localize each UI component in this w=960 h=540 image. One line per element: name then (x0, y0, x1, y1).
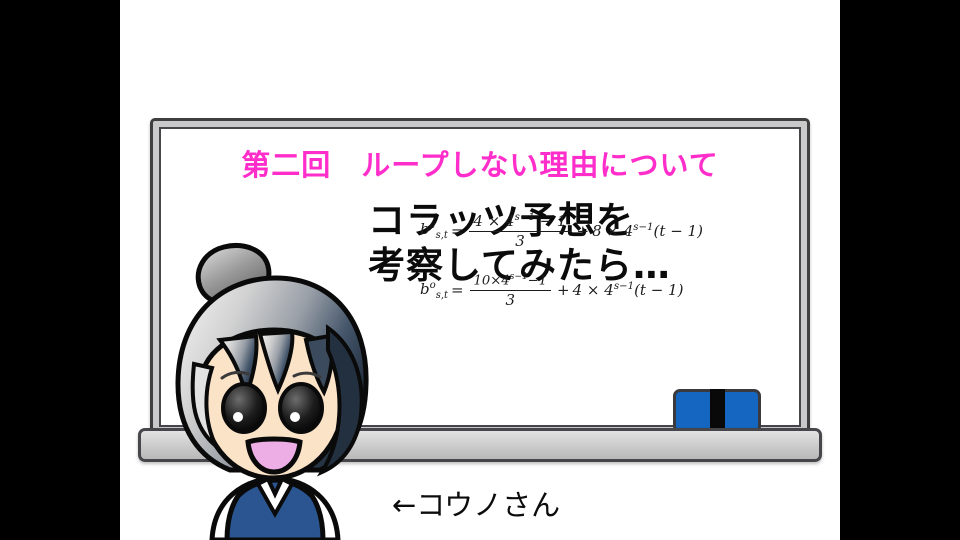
formula-even-lhs: bes,t (420, 220, 448, 241)
character-body (212, 478, 338, 540)
formula-odd: bos,t = 10×4s−1−1 3 + 4 × 4s−1(t − 1) (420, 272, 683, 309)
formula-odd-lhs: bos,t (420, 280, 448, 301)
character-illustration (160, 232, 390, 540)
eraser-band (710, 389, 725, 433)
formula-even-fraction: 4 × 4s−1 − 1 3 (469, 212, 570, 250)
slide-stage: 第二回 ループしない理由について コラッツ予想を 考察してみたら… bes,t … (0, 0, 960, 540)
formula-odd-numerator: 10×4s−1−1 (470, 272, 552, 291)
formula-odd-fraction: 10×4s−1−1 3 (470, 272, 552, 309)
character-caption: ←コウノさん (392, 482, 560, 524)
formula-odd-equals: = (451, 281, 464, 299)
formula-odd-tail: 4 × 4s−1(t − 1) (573, 281, 684, 299)
whiteboard-eraser (673, 389, 761, 433)
formula-odd-plus: + (557, 281, 570, 299)
formula-even-tail: 8 × 4s−1(t − 1) (592, 222, 703, 240)
formula-even-numerator: 4 × 4s−1 − 1 (469, 212, 570, 232)
formula-even: bes,t = 4 × 4s−1 − 1 3 + 8 × 4s−1(t − 1) (420, 212, 703, 250)
formula-odd-denominator: 3 (502, 291, 520, 309)
formula-even-equals: = (451, 222, 464, 240)
letterbox-left (0, 0, 120, 540)
kouno-san-avatar (160, 232, 390, 540)
formula-even-plus: + (577, 222, 590, 240)
slide-content-area: 第二回 ループしない理由について コラッツ予想を 考察してみたら… bes,t … (120, 0, 840, 540)
page-title: 第二回 ループしない理由について (120, 142, 840, 184)
letterbox-right (840, 0, 960, 540)
formula-even-denominator: 3 (511, 232, 529, 250)
